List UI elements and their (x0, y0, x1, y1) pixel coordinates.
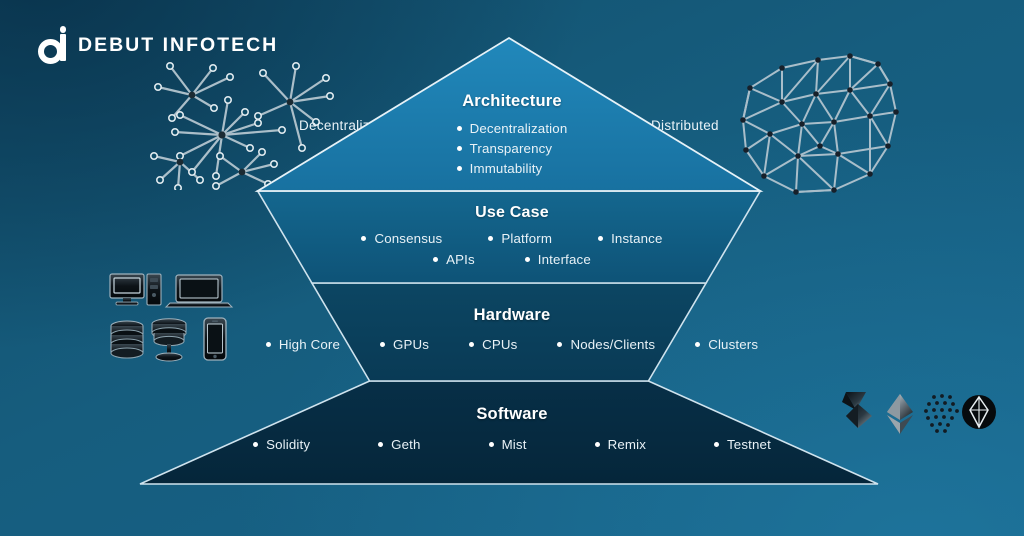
pyramid-tier-hardware (312, 283, 706, 381)
pyramid-diagram (0, 0, 1024, 536)
infographic-canvas: DEBUT INFOTECH (0, 0, 1024, 536)
pyramid-tier-software (140, 381, 878, 484)
pyramid-tier-architecture (258, 38, 761, 191)
pyramid-tier-use-case (258, 191, 761, 283)
